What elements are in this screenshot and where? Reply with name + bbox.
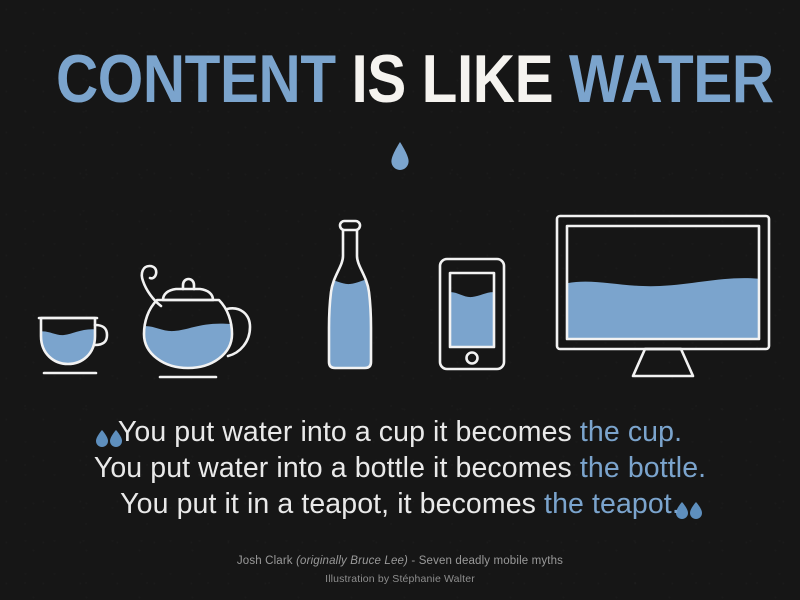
title-word-content: CONTENT [56,41,336,117]
device-illustration-row [0,196,800,388]
credit-illustration: Illustration by Stéphanie Walter [0,570,800,588]
quote-line-1: You put water into a cup it becomes the … [0,414,800,450]
title-word-is-like: IS LIKE [351,41,553,117]
credit-author-note: (originally Bruce Lee) [296,555,408,567]
quote-line-2-highlight: the bottle. [580,452,706,484]
phone-illustration [440,259,504,369]
title-word-water: WATER [569,41,774,117]
credit-source: - Seven deadly mobile myths [408,555,563,567]
quote-line-2: You put water into a bottle it becomes t… [0,450,800,486]
monitor-water [560,278,770,346]
quote-line-3-highlight: the teapot. [544,488,680,520]
water-drop-icon [391,142,409,170]
quote-block: You put water into a cup it becomes the … [0,414,800,522]
teapot-illustration [138,266,250,377]
cup-illustration [36,318,107,373]
quote-line-2-text: You put water into a bottle it becomes [94,452,580,484]
quote-line-1-highlight: the cup. [580,416,682,448]
credit-author: Josh Clark [237,555,296,567]
credit-attribution: Josh Clark (originally Bruce Lee) - Seve… [0,552,800,570]
quote-line-1-text: You put water into a cup it becomes [118,416,580,448]
monitor-illustration [557,216,770,376]
page-title: CONTENT IS LIKE WATER [56,44,744,114]
credits-block: Josh Clark (originally Bruce Lee) - Seve… [0,552,800,588]
quote-line-3: You put it in a teapot, it becomes the t… [0,486,800,522]
phone-water [444,292,500,354]
slide-canvas: CONTENT IS LIKE WATER [0,0,800,600]
quote-line-3-text: You put it in a teapot, it becomes [120,488,544,520]
bottle-illustration [322,221,380,374]
